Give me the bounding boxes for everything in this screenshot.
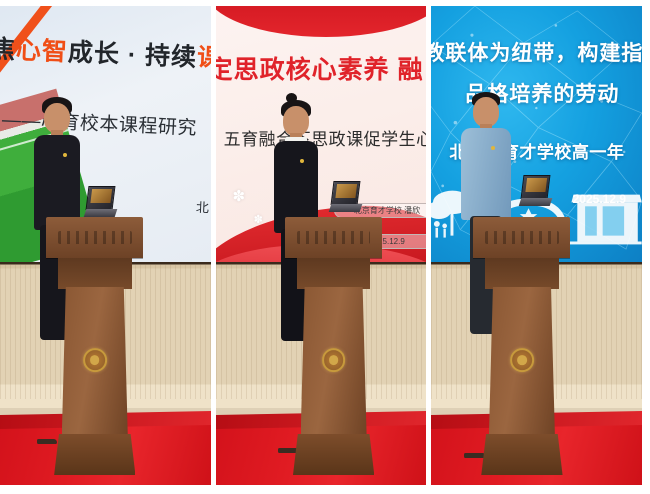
slide-1-title-prefix: 焦 <box>0 36 17 65</box>
photo-panel-3[interactable]: 教联体为纽带，构建指 品格培养的劳动 北京市育才学校高一年 2025.12.9 <box>431 6 642 485</box>
speaker-2-head <box>283 106 309 136</box>
slide-1-org-fragment: 北 <box>195 197 209 217</box>
podium-2-body <box>301 287 367 434</box>
laptop-1-screen <box>90 189 112 203</box>
podium-3-base <box>481 434 562 475</box>
photo-collage: 焦心智成长 · 持续课 ——心育校本课程研究 北 <box>0 0 650 494</box>
laptop-3-lid <box>520 175 550 199</box>
slide-1-title-suffix: 成长 · 持续 <box>67 39 197 72</box>
podium-1-body <box>62 287 128 434</box>
podium-1 <box>46 217 143 476</box>
slide-2-title: 定思政核心素养 融 <box>216 50 424 86</box>
dove-icon: ✽ <box>233 187 246 205</box>
slide-1-title: 焦心智成长 · 持续课 <box>0 30 211 76</box>
laptop-1-lid <box>86 186 116 210</box>
school-crest-icon <box>510 348 534 372</box>
podium-3-carving <box>485 231 559 244</box>
speaker-3-lapel-pin <box>491 146 495 150</box>
laptop-3-base <box>518 198 552 206</box>
slide-2-red-top-band <box>216 6 427 37</box>
laptop-3-screen <box>525 179 547 193</box>
podium-2 <box>285 217 382 476</box>
podium-3-neck <box>485 258 559 289</box>
laptop-3[interactable] <box>522 175 549 206</box>
laptop-2-lid <box>330 181 360 205</box>
podium-2-base <box>293 434 374 475</box>
podium-3 <box>473 217 570 476</box>
speaker-1-torso <box>34 135 80 230</box>
slide-1-title-highlight: 心智 <box>15 37 68 67</box>
podium-1-carving <box>58 231 132 244</box>
photo-panel-2[interactable]: ✽ ✽ ✽ 定思政核心素养 融 五育融合下思政课促学生心 北京育才学校 潘欣 2… <box>216 6 427 485</box>
podium-2-carving <box>297 231 371 244</box>
podium-1-base <box>54 434 135 475</box>
speaker-3-torso <box>461 128 511 220</box>
laptop-2-base <box>328 204 362 212</box>
podium-2-neck <box>297 258 371 289</box>
slide-1-title-cut: 课 <box>197 44 211 73</box>
laptop-2-screen <box>335 184 357 198</box>
photo-panel-1[interactable]: 焦心智成长 · 持续课 ——心育校本课程研究 北 <box>0 6 211 485</box>
school-crest-icon <box>322 348 346 372</box>
school-crest-icon <box>83 348 107 372</box>
dove-icon: ✽ <box>254 213 263 226</box>
speaker-3-head <box>473 97 499 127</box>
laptop-2[interactable] <box>332 181 359 212</box>
slide-3-title-line1: 教联体为纽带，构建指 <box>431 37 642 67</box>
laptop-1-base <box>84 209 118 217</box>
podium-3-body <box>489 287 555 434</box>
podium-1-neck <box>58 258 132 289</box>
speaker-1-head <box>44 103 70 133</box>
laptop-1[interactable] <box>87 186 114 217</box>
